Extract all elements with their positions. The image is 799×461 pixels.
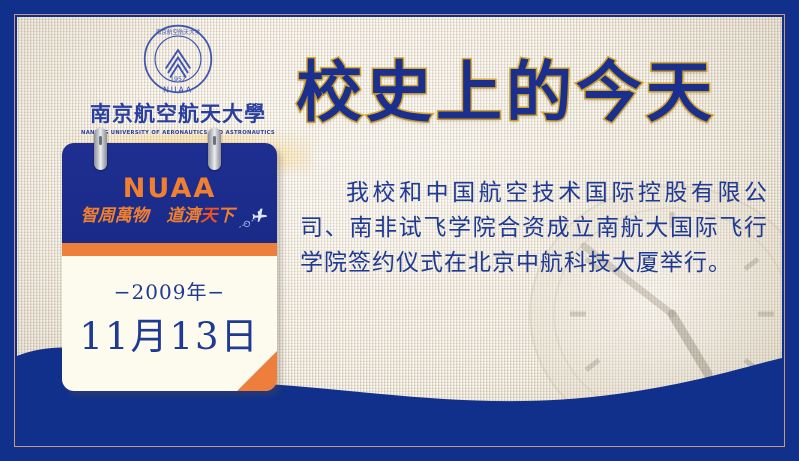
page-corner-fold — [237, 351, 277, 391]
paper-background: 1952 NUAA 南京航空航天大学 南京航空航天大學 NANJING UNIV… — [17, 17, 782, 444]
nuaa-crest-icon: 1952 NUAA 南京航空航天大学 — [141, 22, 215, 96]
svg-text:NUAA: NUAA — [163, 84, 193, 94]
motto-spacer — [155, 206, 161, 226]
binder-ring-icon — [208, 128, 221, 170]
calendar-date-panel: −2009年− 11月13日 — [62, 256, 277, 391]
article-body: 我校和中国航空技术国际控股有限公司、南非试飞学院合资成立南航大国际飞行学院签约仪… — [300, 176, 768, 281]
calendar-card: NUAA 智周萬物 道濟天下 −2009年− 11月13日 — [62, 143, 277, 391]
airplane-icon — [235, 205, 269, 231]
university-motto: 智周萬物 道濟天下 — [62, 201, 253, 226]
calendar-orange-stripe — [62, 243, 277, 256]
university-name-en: NANJING UNIVERSITY OF AERONAUTICS AND AS… — [78, 130, 278, 136]
binder-ring-icon — [94, 128, 107, 170]
page-title: 校史上的今天 — [296, 39, 716, 135]
motto-part-2: 道濟 — [166, 206, 200, 226]
motto-highlight: 天 — [200, 206, 217, 226]
poster-canvas: 1952 NUAA 南京航空航天大学 南京航空航天大學 NANJING UNIV… — [0, 0, 799, 461]
motto-part-3: 下 — [217, 206, 234, 226]
brand-block: 1952 NUAA 南京航空航天大学 南京航空航天大學 NANJING UNIV… — [78, 22, 278, 136]
university-name-cn: 南京航空航天大學 — [78, 98, 278, 128]
motto-part-1: 智周萬物 — [81, 206, 149, 226]
calendar-year: −2009年− — [62, 276, 277, 305]
svg-text:1952: 1952 — [170, 76, 186, 83]
nuaa-logo-text: NUAA — [62, 173, 277, 204]
